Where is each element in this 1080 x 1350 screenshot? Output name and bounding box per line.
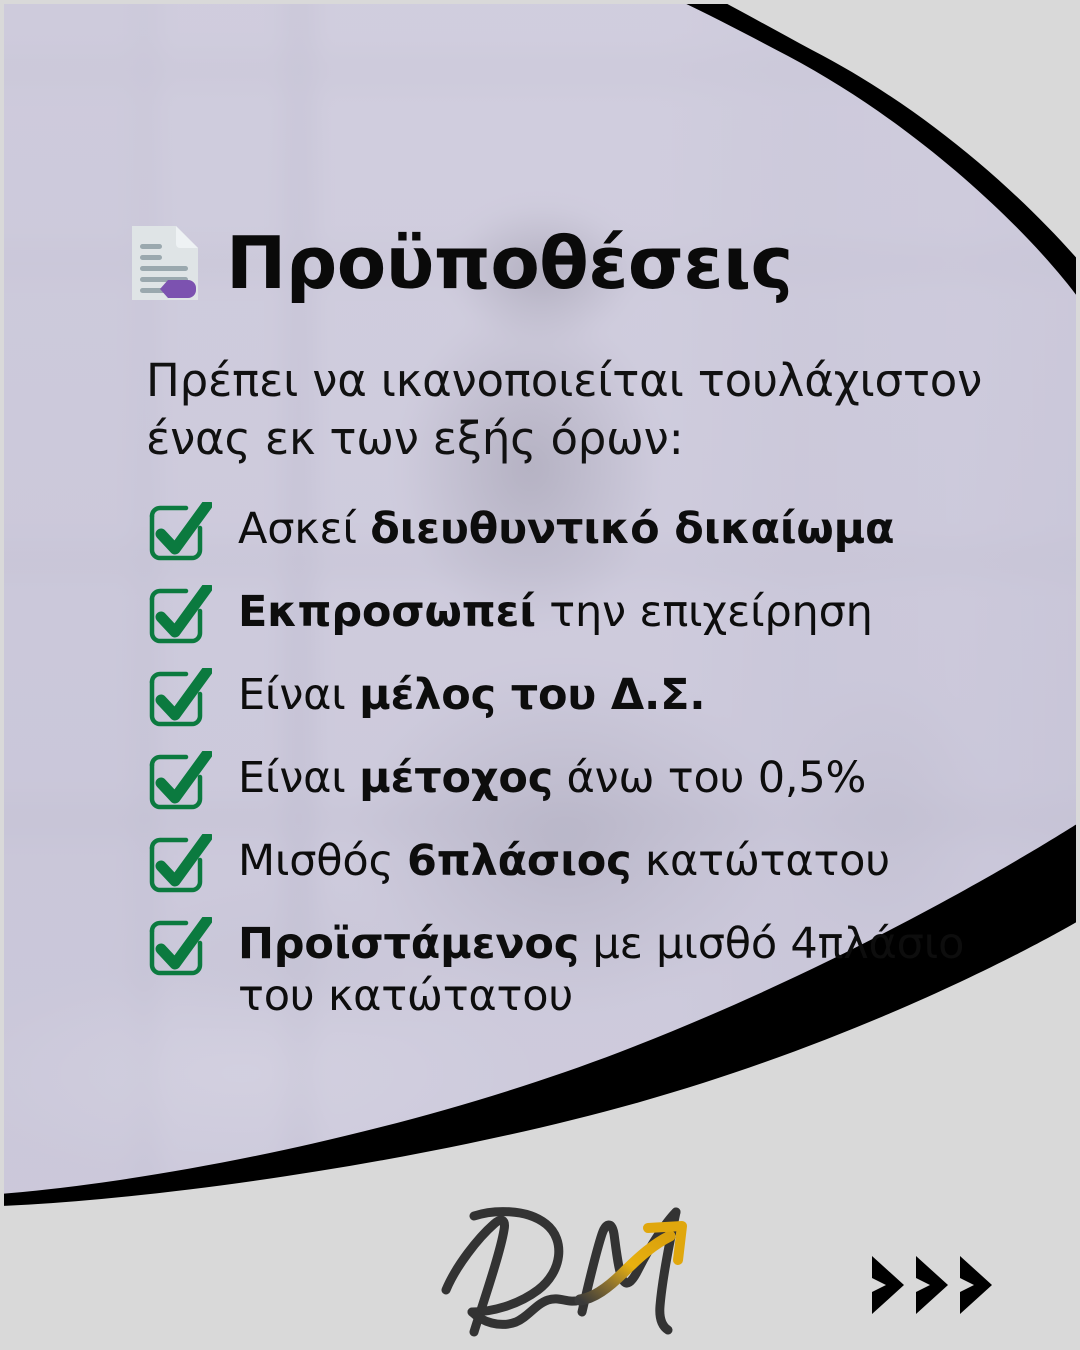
page-title: Προϋποθέσεις — [226, 227, 793, 299]
triple-chevron-right-icon[interactable] — [868, 1254, 1008, 1316]
requirement-item: Προϊστάμενος με μισθό 4πλάσιο του κατώτα… — [146, 915, 1026, 1022]
requirement-plain-before: Ασκεί — [238, 504, 370, 554]
social-post-canvas: Προϋποθέσεις Πρέπει να ικανοποιείται του… — [0, 0, 1080, 1350]
requirement-text: Προϊστάμενος με μισθό 4πλάσιο του κατώτα… — [238, 915, 1026, 1022]
requirement-text: Μισθός 6πλάσιος κατώτατου — [238, 832, 890, 888]
requirement-highlight: Προϊστάμενος — [238, 919, 579, 969]
requirement-plain-after: την επιχείρηση — [536, 587, 873, 637]
subtitle-text: Πρέπει να ικανοποιείται τουλάχιστον ένας… — [146, 352, 1006, 467]
check-square-icon — [146, 917, 212, 979]
footer-bar — [0, 1222, 1080, 1350]
document-highlight-icon — [128, 222, 202, 304]
requirement-item: Είναι μέτοχος άνω του 0,5% — [146, 749, 1026, 821]
title-row: Προϋποθέσεις — [128, 222, 793, 304]
requirement-text: Εκπροσωπεί την επιχείρηση — [238, 583, 873, 639]
requirement-text: Είναι μέτοχος άνω του 0,5% — [238, 749, 866, 805]
requirement-plain-after: κατώτατου — [631, 836, 890, 886]
requirement-item: Είναι μέλος του Δ.Σ. — [146, 666, 1026, 738]
requirement-item: Μισθός 6πλάσιος κατώτατου — [146, 832, 1026, 904]
check-square-icon — [146, 751, 212, 813]
check-square-icon — [146, 834, 212, 896]
requirements-list: Ασκεί διευθυντικό δικαίωμα Εκπροσωπεί τη… — [146, 500, 1026, 1022]
requirement-text: Είναι μέλος του Δ.Σ. — [238, 666, 705, 722]
requirement-highlight: 6πλάσιος — [407, 836, 631, 886]
check-square-icon — [146, 502, 212, 564]
requirement-plain-before: Είναι — [238, 753, 359, 803]
requirement-item: Εκπροσωπεί την επιχείρηση — [146, 583, 1026, 655]
requirement-plain-before: Μισθός — [238, 836, 407, 886]
requirement-plain-before: Είναι — [238, 670, 359, 720]
requirement-highlight: μέλος του Δ.Σ. — [359, 670, 705, 720]
check-square-icon — [146, 668, 212, 730]
requirement-text: Ασκεί διευθυντικό δικαίωμα — [238, 500, 894, 556]
check-square-icon — [146, 585, 212, 647]
dm-signature-logo[interactable] — [430, 1194, 720, 1344]
requirement-item: Ασκεί διευθυντικό δικαίωμα — [146, 500, 1026, 572]
requirement-highlight: διευθυντικό δικαίωμα — [370, 504, 894, 554]
requirement-plain-after: άνω του 0,5% — [553, 753, 866, 803]
requirement-highlight: μέτοχος — [359, 753, 553, 803]
requirement-highlight: Εκπροσωπεί — [238, 587, 536, 637]
